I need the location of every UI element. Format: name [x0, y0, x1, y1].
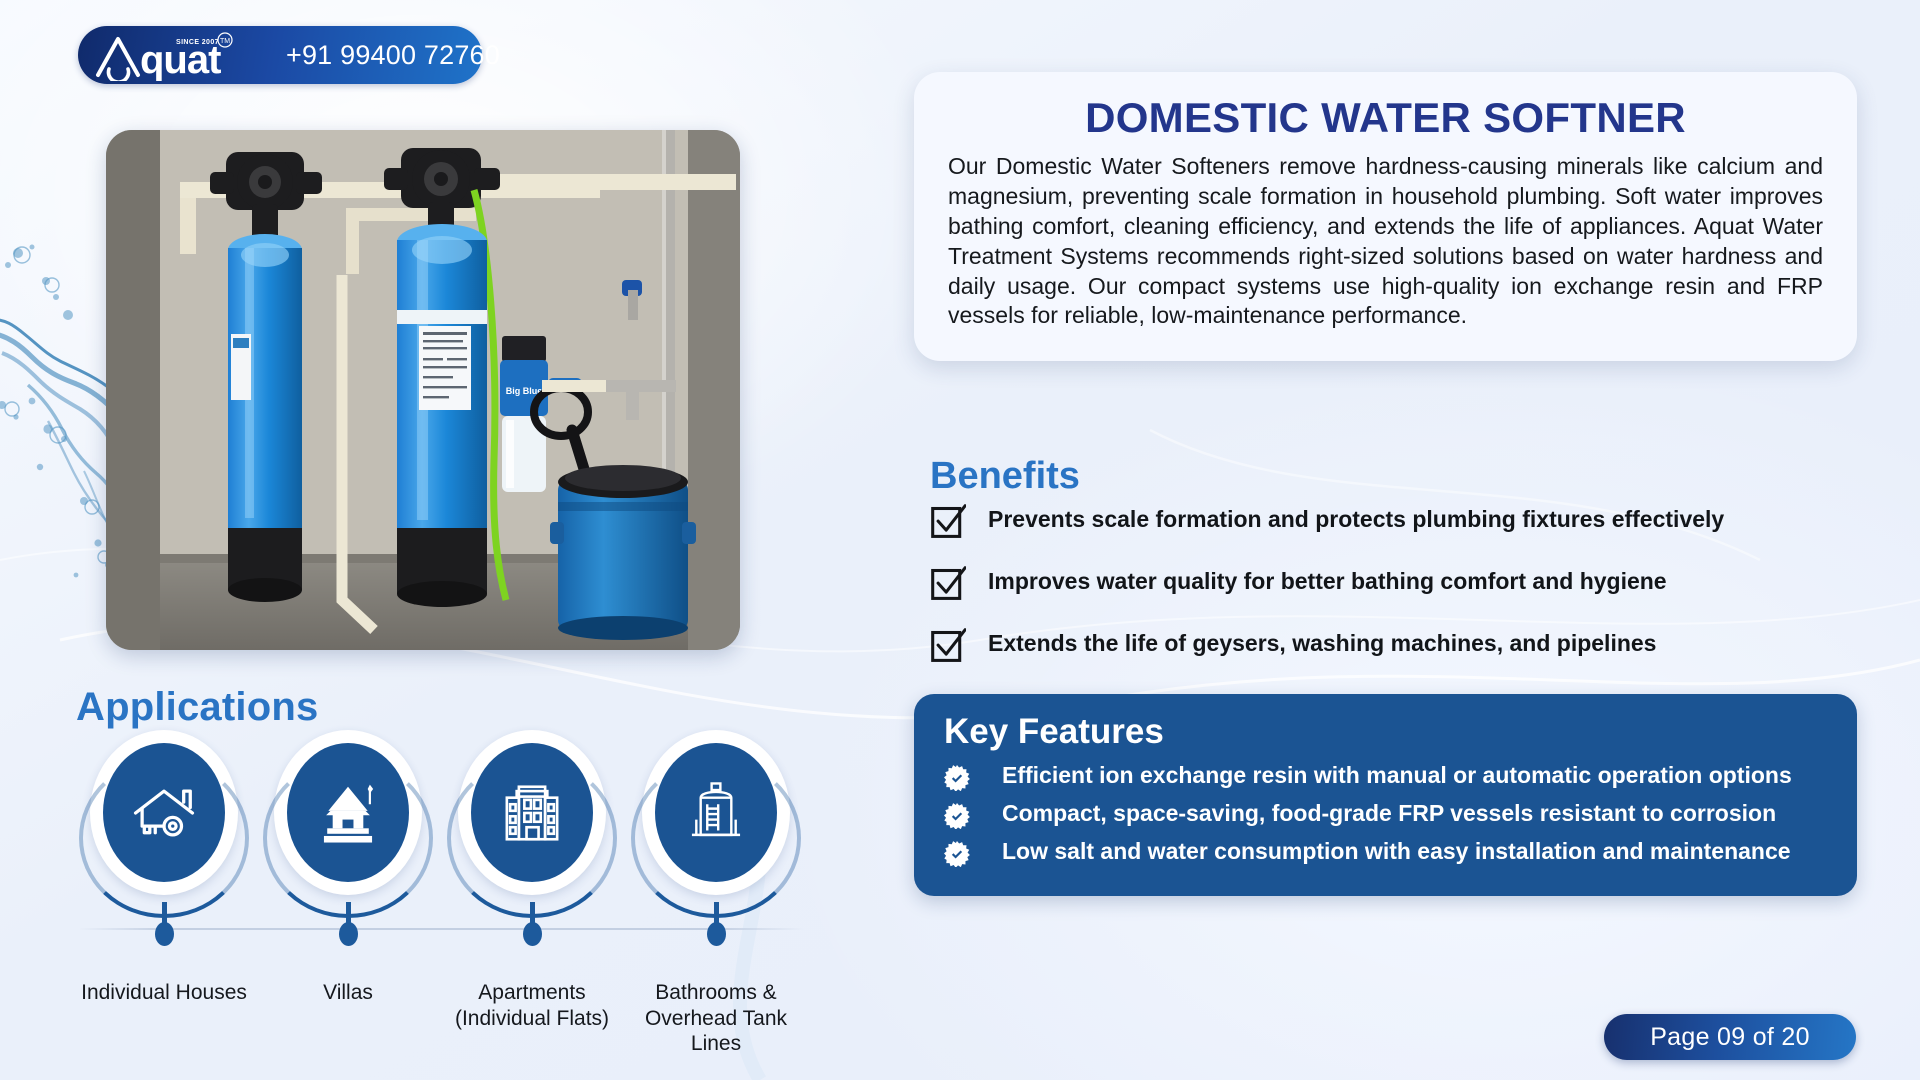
applications-baseline — [78, 928, 804, 930]
checkbox-checked-icon — [930, 504, 966, 540]
page-number-badge: Page 09 of 20 — [1604, 1014, 1856, 1060]
application-badge — [260, 730, 436, 906]
badge-core — [471, 743, 593, 882]
application-item-villas[interactable]: Villas — [260, 730, 436, 906]
key-feature-item: Low salt and water consumption with easy… — [944, 836, 1827, 867]
application-badge — [444, 730, 620, 906]
benefit-item: Prevents scale formation and protects pl… — [930, 506, 1860, 540]
villa-icon — [313, 778, 383, 848]
checkbox-checked-icon — [930, 628, 966, 664]
application-label: Apartments (Individual Flats) — [444, 980, 620, 1031]
connector-dot — [155, 922, 174, 946]
brand-logo-bar[interactable]: quat SINCE 2007 TM +91 99400 72760 — [78, 26, 482, 84]
key-feature-label: Low salt and water consumption with easy… — [1002, 836, 1791, 866]
applications-heading: Applications — [76, 685, 318, 730]
connector-dot — [339, 922, 358, 946]
applications-row: Individual Houses — [76, 730, 816, 1070]
key-features-heading: Key Features — [944, 712, 1827, 752]
application-label: Bathrooms & Overhead Tank Lines — [628, 980, 804, 1057]
water-tank-icon — [681, 778, 751, 848]
phone-number[interactable]: +91 99400 72760 — [286, 40, 500, 71]
product-photo: Big Blue — [106, 130, 740, 650]
connector-dot — [523, 922, 542, 946]
key-feature-label: Compact, space-saving, food-grade FRP ve… — [1002, 798, 1776, 828]
checkbox-checked-icon — [930, 566, 966, 602]
badge-core — [655, 743, 777, 882]
starburst-check-icon — [944, 803, 970, 829]
page-title: DOMESTIC WATER SOFTNER — [948, 94, 1823, 142]
application-label: Villas — [260, 980, 436, 1006]
key-feature-item: Efficient ion exchange resin with manual… — [944, 760, 1827, 791]
badge-core — [103, 743, 225, 882]
benefit-label: Prevents scale formation and protects pl… — [988, 506, 1724, 534]
benefit-label: Extends the life of geysers, washing mac… — [988, 630, 1656, 658]
key-features-card: Key Features Efficient ion exchange resi… — [914, 694, 1857, 896]
starburst-check-icon — [944, 841, 970, 867]
benefits-heading: Benefits — [930, 455, 1080, 498]
logo-tm-text: TM — [220, 38, 230, 45]
slide-canvas: quat SINCE 2007 TM +91 99400 72760 — [0, 0, 1920, 1080]
benefits-list: Prevents scale formation and protects pl… — [930, 506, 1860, 692]
application-item-bathrooms-overhead-tanks[interactable]: Bathrooms & Overhead Tank Lines — [628, 730, 804, 906]
description-card: DOMESTIC WATER SOFTNER Our Domestic Wate… — [914, 72, 1857, 361]
badge-core — [287, 743, 409, 882]
application-item-apartments[interactable]: Apartments (Individual Flats) — [444, 730, 620, 906]
apartment-building-icon — [497, 778, 567, 848]
key-feature-item: Compact, space-saving, food-grade FRP ve… — [944, 798, 1827, 829]
benefit-item: Extends the life of geysers, washing mac… — [930, 630, 1860, 664]
logo-since-text: SINCE 2007 — [176, 39, 219, 46]
application-item-individual-houses[interactable]: Individual Houses — [76, 730, 252, 906]
house-key-icon — [129, 778, 199, 848]
benefit-item: Improves water quality for better bathin… — [930, 568, 1860, 602]
application-badge — [628, 730, 804, 906]
benefit-label: Improves water quality for better bathin… — [988, 568, 1667, 596]
application-label: Individual Houses — [76, 980, 252, 1006]
key-feature-label: Efficient ion exchange resin with manual… — [1002, 760, 1792, 790]
connector-dot — [707, 922, 726, 946]
application-badge — [76, 730, 252, 906]
description-body: Our Domestic Water Softeners remove hard… — [948, 152, 1823, 331]
starburst-check-icon — [944, 765, 970, 791]
aquat-logo: quat SINCE 2007 TM — [92, 29, 282, 81]
